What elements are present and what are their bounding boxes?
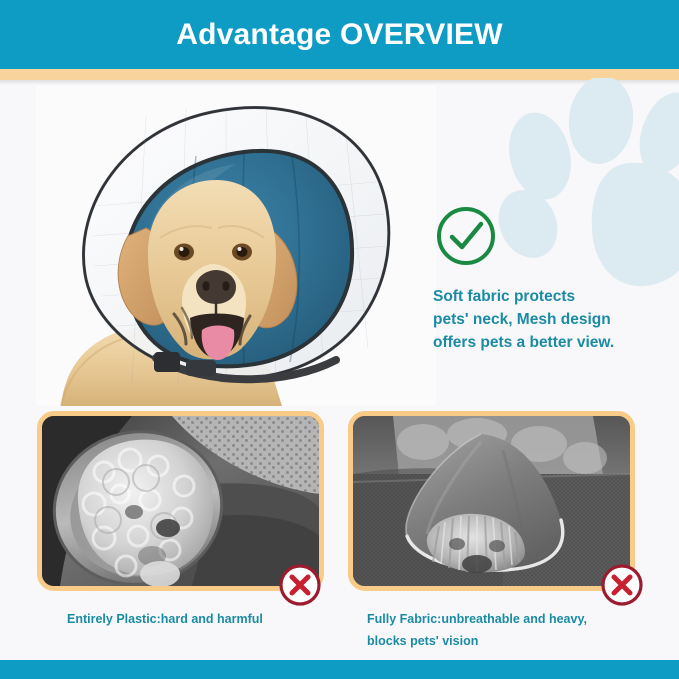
caption-fabric-line-1: Fully Fabric:unbreathable and heavy, [367,609,637,631]
caption-fabric-cone: Fully Fabric:unbreathable and heavy, blo… [367,609,637,653]
hero-photo-dog-in-soft-cone [36,86,436,406]
benefit-description: Soft fabric protects pets' neck, Mesh de… [433,286,663,355]
benefit-line-1: Soft fabric protects [433,286,663,309]
caption-plastic-line-1: Entirely Plastic:hard and harmful [67,609,317,631]
header-accent-stripe [0,69,679,80]
check-circle-icon [434,204,498,268]
x-circle-icon-fabric [600,563,644,607]
x-circle-icon-plastic [278,563,322,607]
comparison-card-fabric-cone [348,411,635,591]
benefit-line-2: pets' neck, Mesh design [433,309,663,332]
paw-print-icon [498,78,679,288]
photo-fabric-cone [353,416,630,586]
footer-banner [0,660,679,679]
page-title: Advantage OVERVIEW [176,18,502,52]
photo-plastic-cone [42,416,319,586]
caption-plastic-cone: Entirely Plastic:hard and harmful [67,609,317,631]
header-banner: Advantage OVERVIEW [0,0,679,69]
benefit-line-3: offers pets a better view. [433,332,663,355]
caption-fabric-line-2: blocks pets' vision [367,631,637,653]
header-shadow [0,80,679,85]
infographic-page: Advantage OVERVIEW [0,0,679,679]
